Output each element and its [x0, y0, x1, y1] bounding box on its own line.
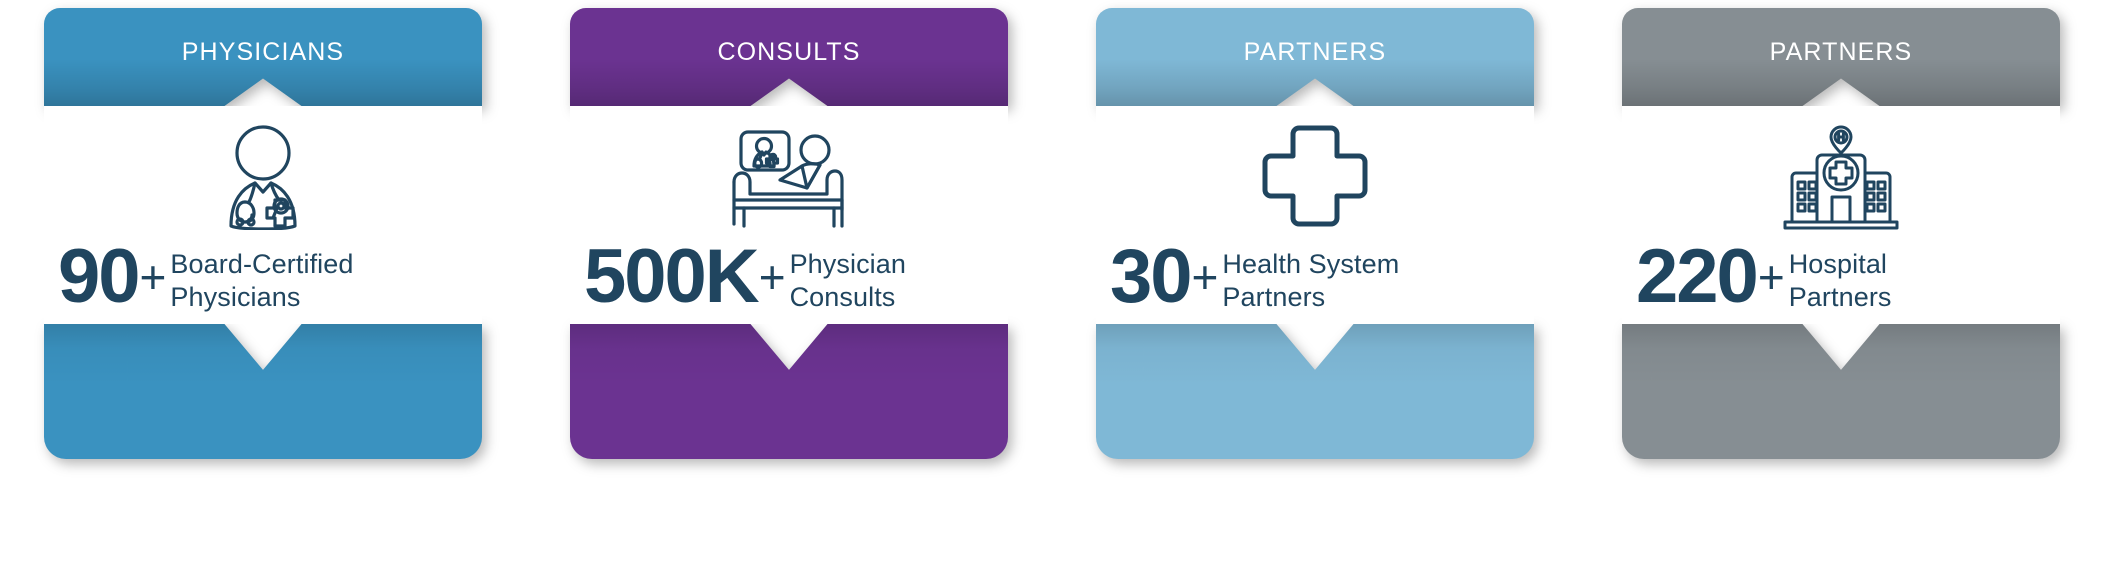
stat-card-physicians: PHYSICIANS 90: [0, 8, 526, 573]
card-banner-hospital-partners: PARTNERS: [1622, 8, 2060, 106]
stat-number: 220: [1636, 242, 1757, 312]
card-body-physicians: 90 + Board-Certified Physicians: [44, 106, 482, 324]
doctor-stethoscope-icon: [199, 106, 327, 230]
stat-card-health-system-partners: PARTNERS 30 + Health System Partners: [1052, 8, 1578, 573]
stat-plus-sign: +: [758, 242, 790, 313]
stat-number: 500K: [584, 242, 758, 312]
card-body-hospital-partners: 220 + Hospital Partners: [1622, 106, 2060, 324]
footer-fill: [570, 324, 1008, 459]
stat-number: 30: [1110, 242, 1191, 312]
stat-line: 90 + Board-Certified Physicians: [44, 242, 482, 314]
stat-card-consults: CONSULTS: [526, 8, 1052, 573]
stat-plus-sign: +: [139, 242, 171, 313]
stat-number: 90: [58, 242, 139, 312]
footer-fill: [1096, 324, 1534, 459]
card-body-health-system-partners: 30 + Health System Partners: [1096, 106, 1534, 324]
card-footer-consults: [570, 324, 1008, 459]
banner-label: PARTNERS: [1622, 38, 2060, 67]
stat-plus-sign: +: [1757, 242, 1789, 313]
stat-description: Health System Partners: [1222, 242, 1399, 314]
card-banner-physicians: PHYSICIANS: [44, 8, 482, 106]
stat-line: 500K + Physician Consults: [570, 242, 1008, 314]
card-body-consults: 500K + Physician Consults: [570, 106, 1008, 324]
stat-line: 220 + Hospital Partners: [1622, 242, 2060, 314]
card-footer-physicians: [44, 324, 482, 459]
stat-line: 30 + Health System Partners: [1096, 242, 1534, 314]
card-banner-consults: CONSULTS: [570, 8, 1008, 106]
stat-description: Physician Consults: [790, 242, 906, 314]
card-banner-health-system-partners: PARTNERS: [1096, 8, 1534, 106]
telemedicine-consult-icon: [714, 106, 864, 230]
stat-card-hospital-partners: PARTNERS: [1578, 8, 2104, 573]
card-footer-health-system-partners: [1096, 324, 1534, 459]
footer-fill: [1622, 324, 2060, 459]
banner-label: PHYSICIANS: [44, 38, 482, 67]
banner-label: CONSULTS: [570, 38, 1008, 67]
stat-description: Hospital Partners: [1789, 242, 1892, 314]
stat-plus-sign: +: [1191, 242, 1223, 313]
statistics-board: PHYSICIANS 90: [0, 0, 2107, 573]
footer-fill: [44, 324, 482, 459]
hospital-building-icon: [1769, 106, 1913, 230]
stat-description: Board-Certified Physicians: [170, 242, 353, 314]
banner-label: PARTNERS: [1096, 38, 1534, 67]
card-footer-hospital-partners: [1622, 324, 2060, 459]
medical-cross-icon: [1255, 106, 1375, 230]
